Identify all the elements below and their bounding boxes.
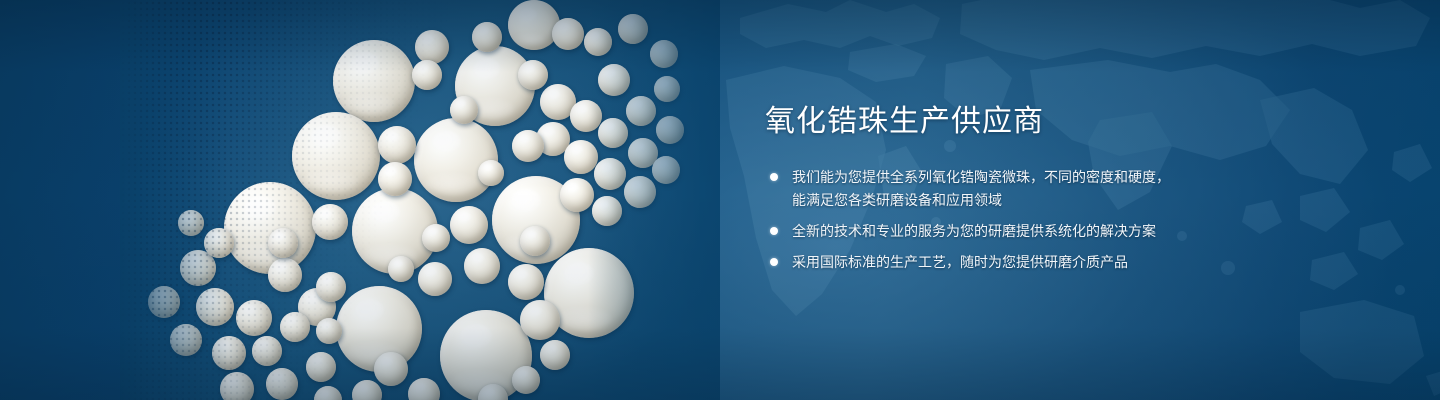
- bullet-dot-icon: [770, 227, 778, 235]
- list-item-text: 采用国际标准的生产工艺，随时为您提供研磨介质产品: [792, 251, 1128, 274]
- feature-list: 我们能为您提供全系列氧化锆陶瓷微珠，不同的密度和硬度， 能满足您各类研磨设备和应…: [765, 166, 1325, 274]
- hero-banner: 氧化锆珠生产供应商 我们能为您提供全系列氧化锆陶瓷微珠，不同的密度和硬度， 能满…: [0, 0, 1440, 400]
- hero-copy: 氧化锆珠生产供应商 我们能为您提供全系列氧化锆陶瓷微珠，不同的密度和硬度， 能满…: [765, 104, 1325, 282]
- list-item-line-2: 能满足您各类研磨设备和应用领域: [792, 189, 1170, 212]
- list-item: 采用国际标准的生产工艺，随时为您提供研磨介质产品: [765, 251, 1325, 274]
- list-item: 我们能为您提供全系列氧化锆陶瓷微珠，不同的密度和硬度， 能满足您各类研磨设备和应…: [765, 166, 1325, 212]
- page-title: 氧化锆珠生产供应商: [765, 104, 1325, 140]
- list-item-line-1: 我们能为您提供全系列氧化锆陶瓷微珠，不同的密度和硬度，: [792, 169, 1170, 185]
- list-item: 全新的技术和专业的服务为您的研磨提供系统化的解决方案: [765, 220, 1325, 243]
- list-item-text: 全新的技术和专业的服务为您的研磨提供系统化的解决方案: [792, 220, 1156, 243]
- list-item-line-1: 全新的技术和专业的服务为您的研磨提供系统化的解决方案: [792, 223, 1156, 239]
- bullet-dot-icon: [770, 173, 778, 181]
- list-item-line-1: 采用国际标准的生产工艺，随时为您提供研磨介质产品: [792, 254, 1128, 270]
- list-item-text: 我们能为您提供全系列氧化锆陶瓷微珠，不同的密度和硬度， 能满足您各类研磨设备和应…: [792, 166, 1170, 212]
- bullet-dot-icon: [770, 258, 778, 266]
